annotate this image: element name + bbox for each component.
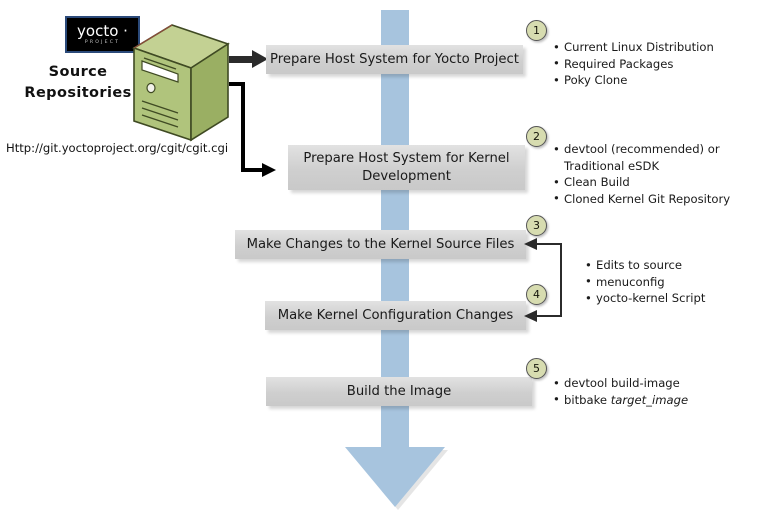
step-badge-2: 2 — [526, 126, 547, 147]
bullet-list-step2: devtool (recommended) or Traditional eSD… — [553, 141, 730, 207]
list-item: Required Packages — [553, 56, 714, 73]
step-badge-3: 3 — [526, 215, 547, 236]
process-box-step1-label: Prepare Host System for Yocto Project — [270, 51, 519, 69]
connector-arrowhead-to-step2-icon — [262, 163, 276, 177]
workflow-diagram: yocto · PROJECT Source Repositories Http… — [0, 0, 769, 517]
flow-arrow-head-icon — [345, 447, 445, 507]
bracket-line-to-step3 — [536, 243, 561, 245]
step-badge-5-number: 5 — [533, 362, 540, 375]
bracket-vertical-line — [560, 243, 562, 317]
source-repositories-label: Source Repositories — [16, 62, 140, 104]
step-badge-5: 5 — [526, 358, 547, 379]
process-box-step5-label: Build the Image — [347, 383, 451, 401]
list-item: menuconfig — [585, 274, 705, 291]
list-item: Current Linux Distribution — [553, 39, 714, 56]
yocto-logo-subtitle: PROJECT — [85, 41, 120, 46]
process-box-step2[interactable]: Prepare Host System for Kernel Developme… — [288, 145, 525, 190]
list-item: Poky Clone — [553, 72, 714, 89]
step-badge-1-number: 1 — [533, 24, 540, 37]
source-repositories-label-line2: Repositories — [16, 83, 140, 104]
connector-line-to-step2-segment2 — [241, 82, 245, 172]
bullet-list-steps-3-and-4: Edits to source menuconfig yocto-kernel … — [585, 257, 705, 307]
list-item: devtool (recommended) or — [553, 141, 730, 158]
list-item-continuation: Traditional eSDK — [553, 158, 730, 175]
process-box-step5[interactable]: Build the Image — [266, 377, 532, 406]
list-item: yocto-kernel Script — [585, 290, 705, 307]
bracket-arrowhead-step4-icon — [524, 310, 537, 322]
step-badge-1: 1 — [526, 20, 547, 41]
process-box-step2-line2: Development — [362, 169, 451, 184]
bracket-arrowhead-step3-icon — [524, 238, 537, 250]
bullet-list-step1: Current Linux Distribution Required Pack… — [553, 39, 714, 89]
process-box-step4[interactable]: Make Kernel Configuration Changes — [265, 301, 526, 330]
list-item: Clean Build — [553, 174, 730, 191]
process-box-step3-label: Make Changes to the Kernel Source Files — [247, 236, 515, 254]
yocto-logo-wordmark: yocto · — [77, 24, 128, 39]
step-badge-4: 4 — [526, 284, 547, 305]
server-icon — [128, 22, 234, 144]
step-badge-3-number: 3 — [533, 219, 540, 232]
bracket-line-to-step4 — [536, 315, 561, 317]
list-item: devtool build-image — [553, 375, 688, 392]
process-box-step2-line1: Prepare Host System for Kernel — [303, 151, 509, 166]
italic-parameter: target_image — [611, 393, 688, 407]
process-box-step4-label: Make Kernel Configuration Changes — [278, 307, 514, 325]
step-badge-4-number: 4 — [533, 288, 540, 301]
bullet-list-step5: devtool build-image bitbake target_image — [553, 375, 688, 408]
process-box-step2-label: Prepare Host System for Kernel Developme… — [303, 150, 509, 186]
list-item: Cloned Kernel Git Repository — [553, 191, 730, 208]
step-badge-2-number: 2 — [533, 130, 540, 143]
source-repositories-label-line1: Source — [16, 62, 140, 83]
process-box-step1[interactable]: Prepare Host System for Yocto Project — [266, 45, 523, 74]
list-item: Edits to source — [585, 257, 705, 274]
list-item: bitbake target_image — [553, 392, 688, 409]
process-box-step3[interactable]: Make Changes to the Kernel Source Files — [235, 230, 526, 259]
